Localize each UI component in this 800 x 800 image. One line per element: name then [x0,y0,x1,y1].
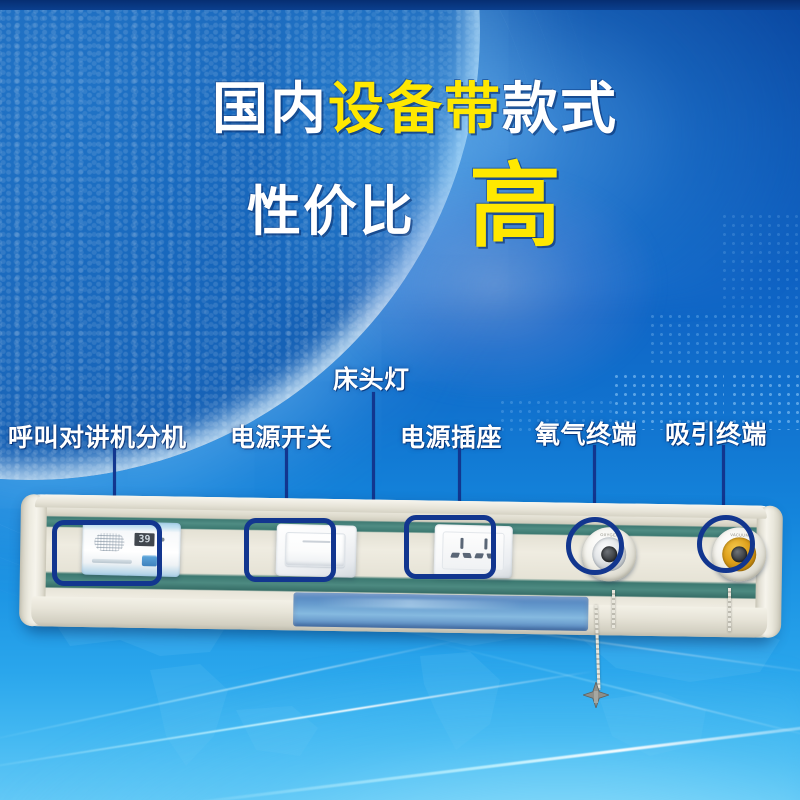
socket-face [442,531,505,571]
socket-outlet-1[interactable] [451,538,474,565]
callout-label-power-switch: 电源开关 [230,418,332,454]
socket-pin-vertical [460,538,463,549]
call-button[interactable] [142,555,157,566]
panel-body: 39 [23,494,777,638]
oxygen-terminal-text: OXYGEN [591,532,629,541]
speaker-grille-icon [94,533,124,552]
callout-label-oxygen: 氧气终端 [535,415,637,451]
power-switch-rocker[interactable] [285,532,346,568]
callout-label-bed-lamp: 床头灯 [333,360,410,396]
power-switch-plate[interactable] [276,524,357,578]
universal-power-socket[interactable] [434,524,513,578]
suction-hanging-cord [728,588,731,632]
intercom-display: 39 [134,533,154,547]
oxygen-hanging-cord [612,590,615,628]
medical-equipment-belt: 39 [24,500,776,632]
socket-pin-right [486,553,495,558]
socket-pin-vertical [484,538,487,549]
suction-terminal-text: VACUUM [721,532,759,541]
callout-label-suction: 吸引终端 [665,415,767,451]
status-led-icon [160,538,164,542]
bed-lamp-diffuser[interactable] [293,592,588,631]
callout-layer: 呼叫对讲机分机 电源开关 床头灯 电源插座 氧气终端 吸引终端 [0,0,800,800]
callout-label-power-socket: 电源插座 [400,418,502,454]
pull-cord-handle[interactable] [583,682,609,708]
socket-pin-left [450,553,460,558]
oxygen-terminal[interactable]: OXYGEN [582,527,637,582]
socket-outlet-2[interactable] [475,538,498,565]
poster-stage: 国内设备带款式 性价比高 呼叫对讲机分机 电源开关 床头灯 电源插座 氧气终端 … [0,0,800,800]
intercom-vent-slot [92,559,132,564]
socket-pin-left [474,553,484,558]
nurse-call-intercom[interactable]: 39 [82,521,181,578]
socket-pin-right [462,553,471,558]
callout-label-intercom: 呼叫对讲机分机 [8,418,187,454]
